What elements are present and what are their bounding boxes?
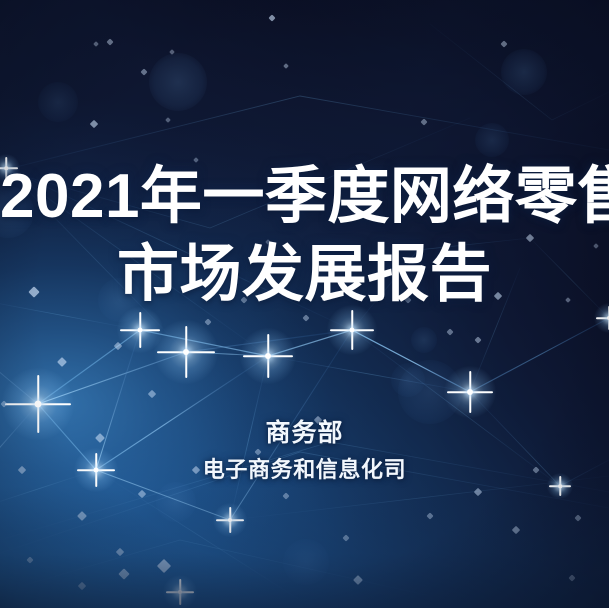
slide-canvas: 2021年一季度网络零售 市场发展报告 商务部 电子商务和信息化司 [0,0,609,608]
background-vignette [0,0,609,608]
